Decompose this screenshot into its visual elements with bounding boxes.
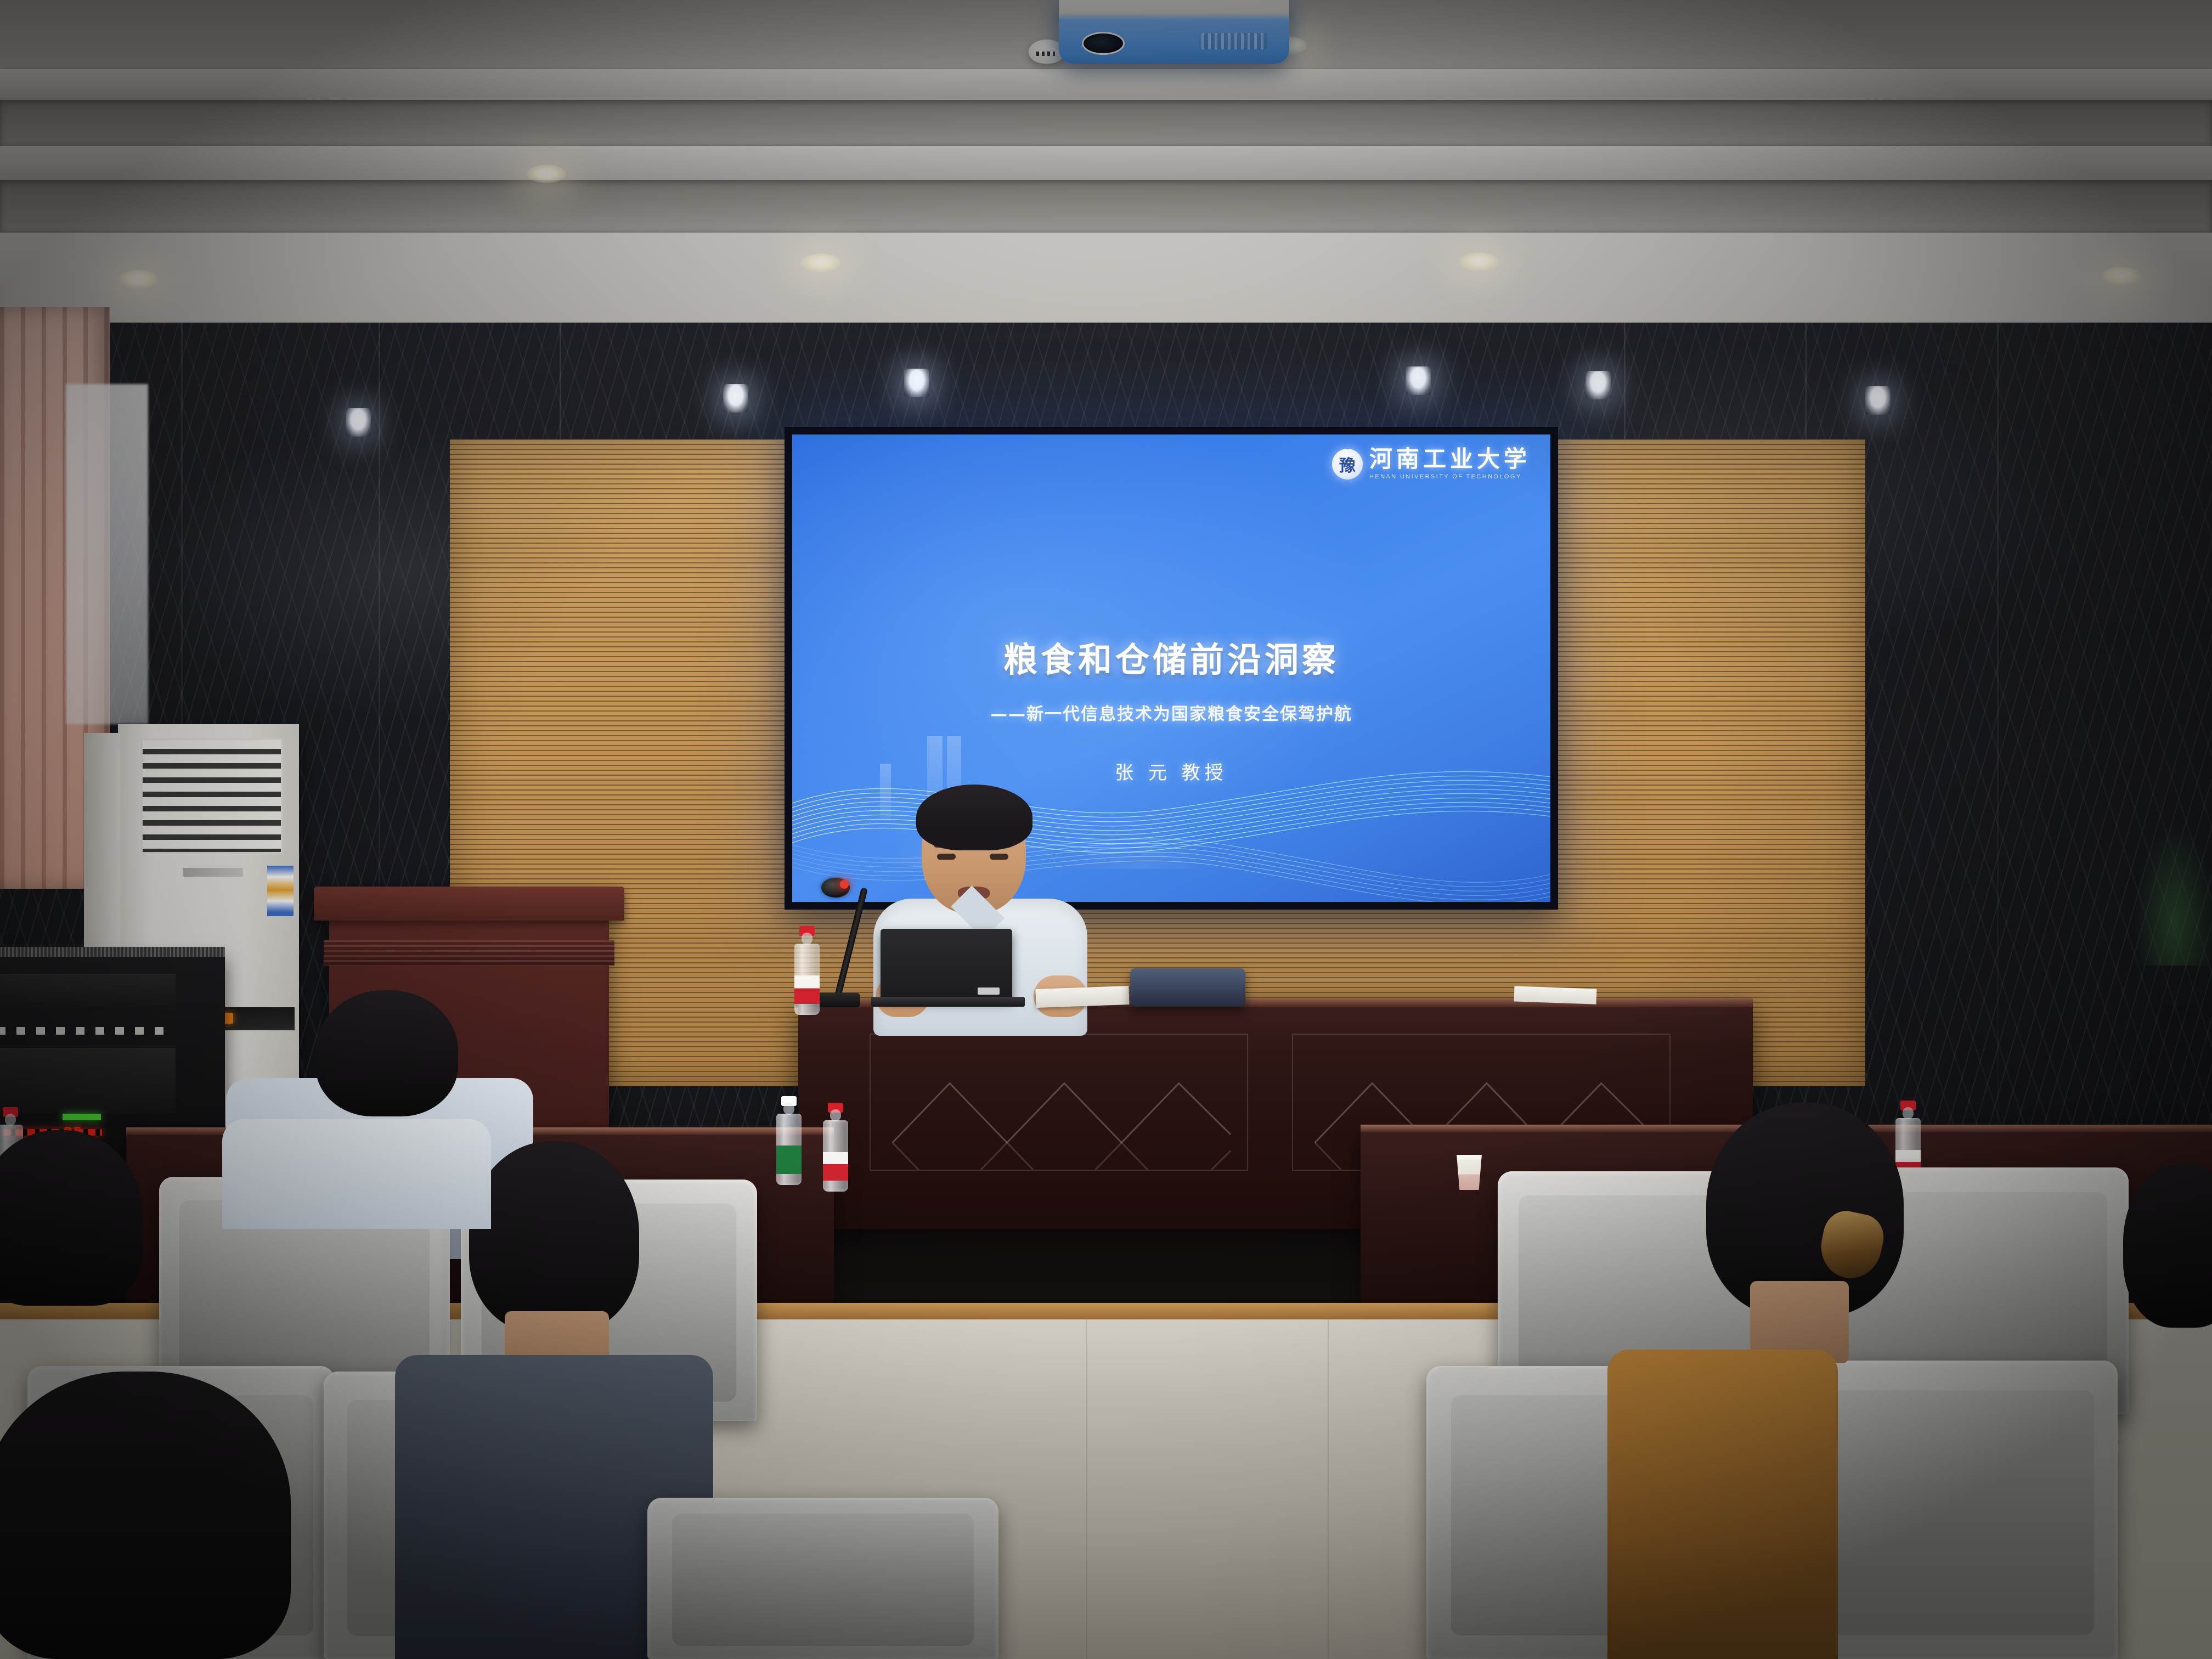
water-bottle-red [823, 1109, 848, 1192]
paper-cup [1455, 1155, 1483, 1190]
bottle-neck [830, 1109, 841, 1121]
university-emblem-icon: 豫 [1332, 449, 1363, 479]
laptop-bag [1130, 968, 1245, 1007]
downlight-2 [801, 253, 840, 272]
wall-sconce [1865, 386, 1891, 415]
ceiling-projector [1059, 0, 1289, 64]
bottle-neck [1903, 1107, 1914, 1119]
projector-vent [1201, 33, 1267, 49]
university-logo: 豫 河南工业大学 HENAN UNIVERSITY OF TECHNOLOGY [1332, 448, 1531, 480]
downlight-4 [2101, 267, 2141, 285]
audience-head-front-left [0, 1372, 291, 1659]
ceiling-band-2 [0, 146, 2212, 180]
audience-head-center-front [469, 1141, 639, 1333]
projector-lens-icon [1082, 32, 1125, 55]
desk-chevron-carving [871, 1035, 1247, 1170]
ac-energy-label [267, 866, 294, 916]
podium-top [314, 887, 624, 921]
window-light [66, 384, 148, 724]
ac-vent-grille [141, 738, 283, 854]
desk-papers [1035, 986, 1129, 1008]
wall-sconce [1406, 366, 1431, 395]
bottle-label [794, 975, 820, 1004]
floor-seam [1086, 1314, 1087, 1659]
bottle-label [823, 1152, 848, 1181]
audience-head-back-left [315, 990, 458, 1116]
podium-molding [324, 940, 614, 966]
downlight-3 [1459, 252, 1499, 271]
laptop-badge [978, 988, 1000, 995]
microphone-led-indicator [840, 880, 849, 889]
ceiling-band-1 [0, 69, 2212, 100]
desk-papers-right [1514, 986, 1597, 1004]
av-rack-top-vents [0, 947, 225, 957]
bottle-neck [783, 1103, 794, 1115]
slide-title: 粮食和仓储前沿洞察 [792, 632, 1550, 681]
av-status-led [63, 1114, 101, 1120]
university-name-english: HENAN UNIVERSITY OF TECHNOLOGY [1369, 474, 1531, 480]
audience-shirt-row1-left [222, 1119, 491, 1229]
water-bottle-green [776, 1103, 802, 1185]
potted-plant [2134, 823, 2212, 966]
bottle-label [776, 1145, 802, 1174]
bottle-neck [802, 933, 812, 945]
floor-seam [1328, 1314, 1329, 1659]
slide-subtitle: ——新一代信息技术为国家粮食安全保驾护航 [792, 700, 1550, 725]
av-mixer-knobs[interactable] [0, 1027, 172, 1035]
bottle-neck [5, 1114, 16, 1126]
presenter-hair [916, 785, 1032, 850]
university-name-chinese: 河南工业大学 [1369, 448, 1531, 471]
presenter-eye [937, 854, 956, 860]
water-bottle-presenter [794, 933, 820, 1015]
audience-head-left-edge [0, 1130, 143, 1306]
lecture-hall-photo: 豫 河南工业大学 HENAN UNIVERSITY OF TECHNOLOGY … [0, 0, 2212, 1659]
downlight-6 [527, 165, 566, 183]
av-unit-1[interactable] [0, 974, 176, 1013]
wall-sconce [723, 384, 748, 413]
audience-shirt-right [1607, 1350, 1838, 1659]
downlight-1 [119, 270, 158, 289]
av-unit-2[interactable] [0, 1048, 176, 1114]
presenter-eye [990, 854, 1008, 860]
wall-sconce [346, 408, 371, 437]
marble-seam [1997, 323, 1999, 1156]
audience-chair-front-center [647, 1498, 998, 1659]
laptop-keyboard-deck[interactable] [871, 997, 1025, 1007]
wall-sconce [904, 369, 929, 397]
ac-brand-logo [183, 868, 243, 877]
ceiling-recess-1 [0, 100, 2212, 146]
ceiling-recess-2 [0, 180, 2212, 233]
ceiling [0, 0, 2212, 351]
wall-sconce [1585, 371, 1611, 399]
desk-front-panel [870, 1034, 1248, 1171]
